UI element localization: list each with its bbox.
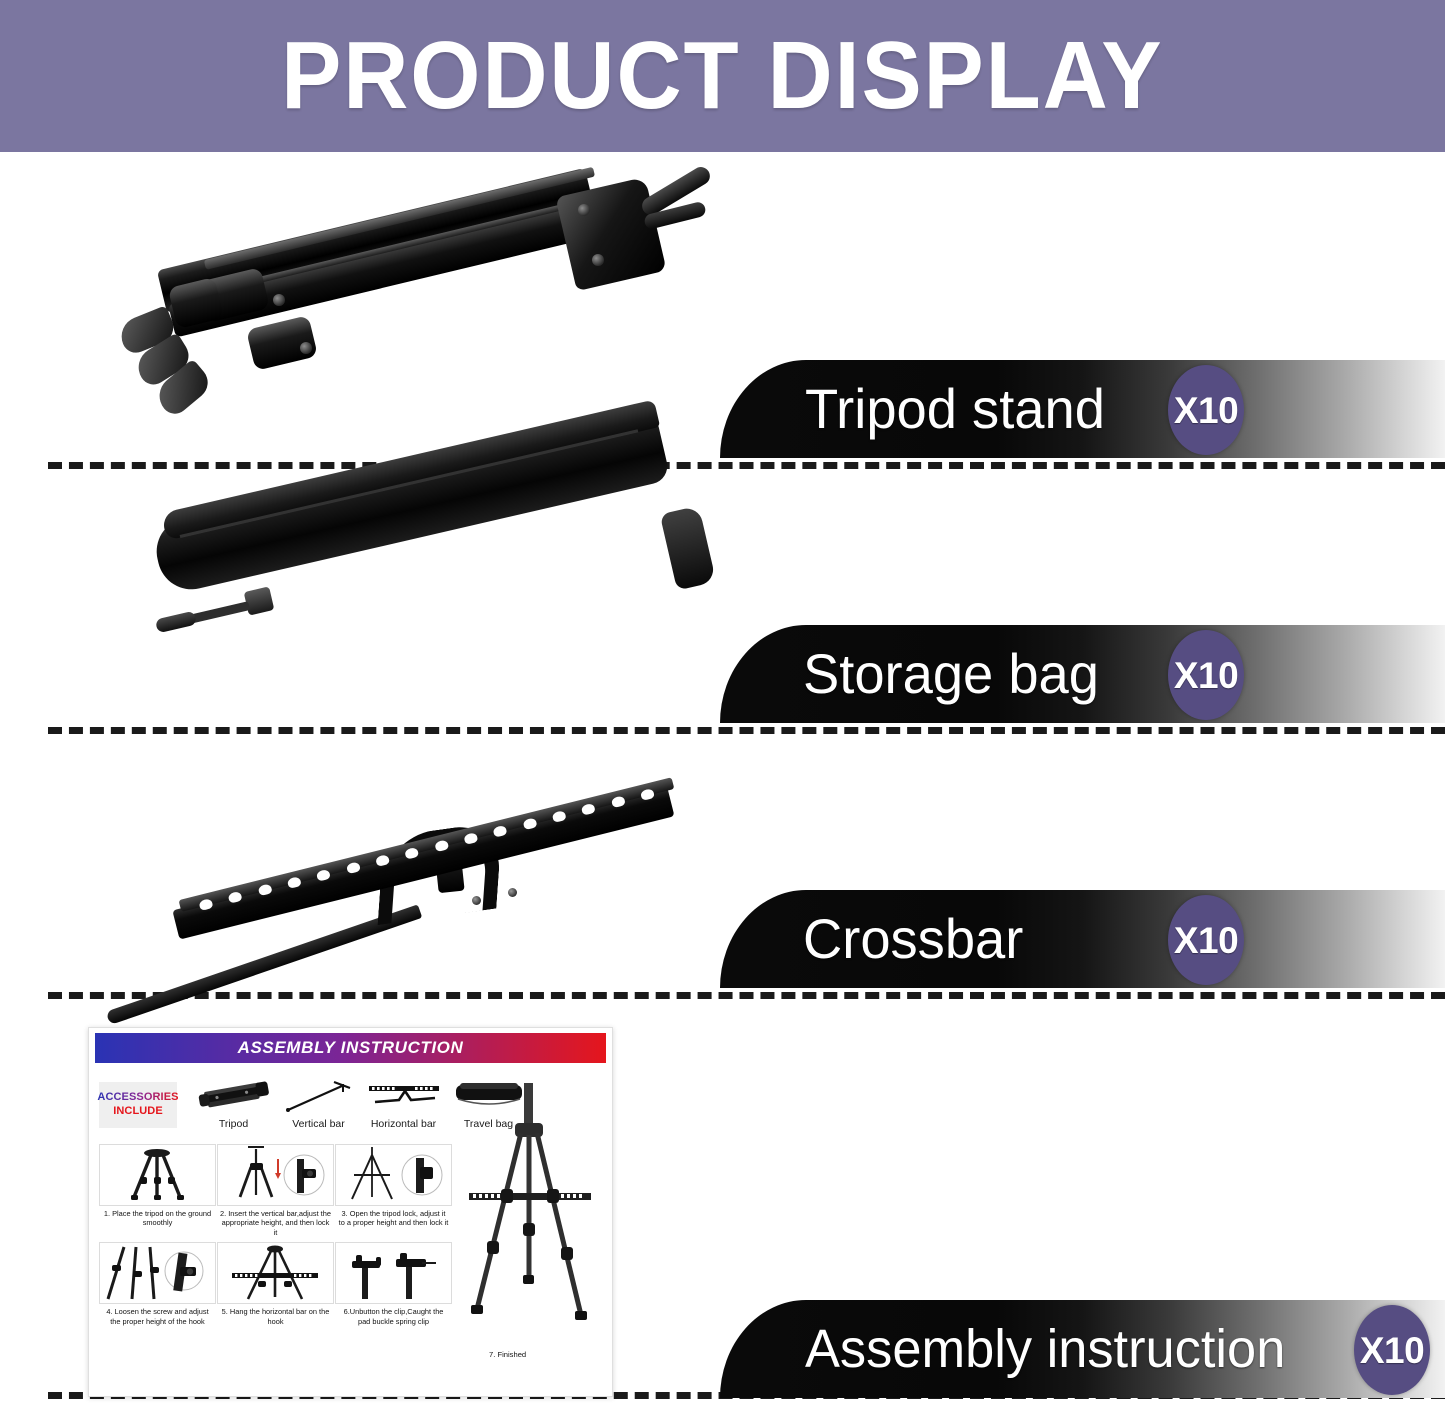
quantity-badge-assembly-instruction: X10 — [1354, 1305, 1430, 1395]
step-3-caption: 3. Open the tripod lock, adjust it to a … — [335, 1206, 452, 1236]
instruction-steps-row-2: 4. Loosen the screw and adjust the prope… — [99, 1242, 451, 1334]
accessory-label-vertical-bar: Vertical bar — [292, 1118, 345, 1130]
finished-easel-illustration — [451, 1083, 611, 1351]
product-label-assembly-instruction: Assembly instruction — [805, 1322, 1285, 1376]
accessory-item-vertical-bar: Vertical bar — [276, 1076, 361, 1130]
instruction-step-1: 1. Place the tripod on the ground smooth… — [99, 1144, 216, 1242]
step-4-illustration — [99, 1242, 216, 1304]
accessory-label-horizontal-bar: Horizontal bar — [371, 1118, 436, 1130]
step-2-caption: 2. Insert the vertical bar,adjust the ap… — [217, 1206, 334, 1242]
product-label-tripod-stand: Tripod stand — [805, 381, 1105, 437]
step-5-caption: 5. Hang the horizontal bar on the hook — [217, 1304, 334, 1334]
product-banner-assembly-instruction[interactable]: Assembly instruction X10 — [720, 1300, 1445, 1398]
step-4-caption: 4. Loosen the screw and adjust the prope… — [99, 1304, 216, 1334]
instruction-step-4: 4. Loosen the screw and adjust the prope… — [99, 1242, 216, 1334]
instruction-steps-grid: 1. Place the tripod on the ground smooth… — [99, 1144, 451, 1334]
quantity-badge-crossbar: X10 — [1168, 895, 1244, 985]
tripod-folded-icon — [195, 1076, 273, 1116]
accessories-heading-line1: ACCESSORIES — [97, 1091, 178, 1105]
accessory-item-horizontal-bar: Horizontal bar — [361, 1076, 446, 1130]
instruction-step-2: 2. Insert the vertical bar,adjust the ap… — [217, 1144, 334, 1242]
product-image-assembly-instruction: ASSEMBLY INSTRUCTION ACCESSORIES INCLUDE — [88, 1027, 613, 1397]
product-banner-tripod-stand[interactable]: Tripod stand X10 — [720, 360, 1445, 458]
instruction-sheet-title: ASSEMBLY INSTRUCTION — [238, 1038, 464, 1058]
instruction-steps-row-1: 1. Place the tripod on the ground smooth… — [99, 1144, 451, 1242]
vertical-bar-icon — [280, 1076, 358, 1116]
step-3-illustration — [335, 1144, 452, 1206]
horizontal-bar-icon — [365, 1076, 443, 1116]
product-label-storage-bag: Storage bag — [803, 646, 1099, 702]
divider-line-1 — [48, 462, 1445, 469]
instruction-step-3: 3. Open the tripod lock, adjust it to a … — [335, 1144, 452, 1242]
quantity-badge-text: X10 — [1174, 392, 1238, 429]
product-image-storage-bag — [150, 477, 710, 692]
product-display-body: Tripod stand X10 Storage bag X10 — [0, 152, 1445, 1404]
accessory-label-tripod: Tripod — [219, 1118, 248, 1130]
quantity-badge-text: X10 — [1360, 1332, 1424, 1369]
product-image-crossbar — [80, 792, 720, 997]
instruction-step-6: 6.Unbutton the clip,Caught the pad buckl… — [335, 1242, 452, 1334]
divider-line-2 — [48, 727, 1445, 734]
page-title: PRODUCT DISPLAY — [281, 28, 1163, 124]
instruction-sheet-title-bar: ASSEMBLY INSTRUCTION — [95, 1033, 606, 1063]
step-2-illustration — [217, 1144, 334, 1206]
step-5-illustration — [217, 1242, 334, 1304]
step-6-caption: 6.Unbutton the clip,Caught the pad buckl… — [335, 1304, 452, 1334]
accessories-heading-line2: INCLUDE — [113, 1105, 163, 1119]
step-1-illustration — [99, 1144, 216, 1206]
quantity-badge-tripod-stand: X10 — [1168, 365, 1244, 455]
accessories-include-label: ACCESSORIES INCLUDE — [99, 1082, 177, 1128]
page-header: PRODUCT DISPLAY — [0, 0, 1445, 152]
step-1-caption: 1. Place the tripod on the ground smooth… — [99, 1206, 216, 1236]
step-6-illustration — [335, 1242, 452, 1304]
product-label-crossbar: Crossbar — [803, 911, 1023, 967]
quantity-badge-storage-bag: X10 — [1168, 630, 1244, 720]
quantity-badge-text: X10 — [1174, 922, 1238, 959]
finished-caption: 7. Finished — [489, 1350, 526, 1359]
instruction-step-5: 5. Hang the horizontal bar on the hook — [217, 1242, 334, 1334]
product-image-tripod-stand — [110, 182, 680, 437]
product-banner-storage-bag[interactable]: Storage bag X10 — [720, 625, 1445, 723]
quantity-badge-text: X10 — [1174, 657, 1238, 694]
product-banner-crossbar[interactable]: Crossbar X10 — [720, 890, 1445, 988]
accessory-item-tripod: Tripod — [191, 1076, 276, 1130]
